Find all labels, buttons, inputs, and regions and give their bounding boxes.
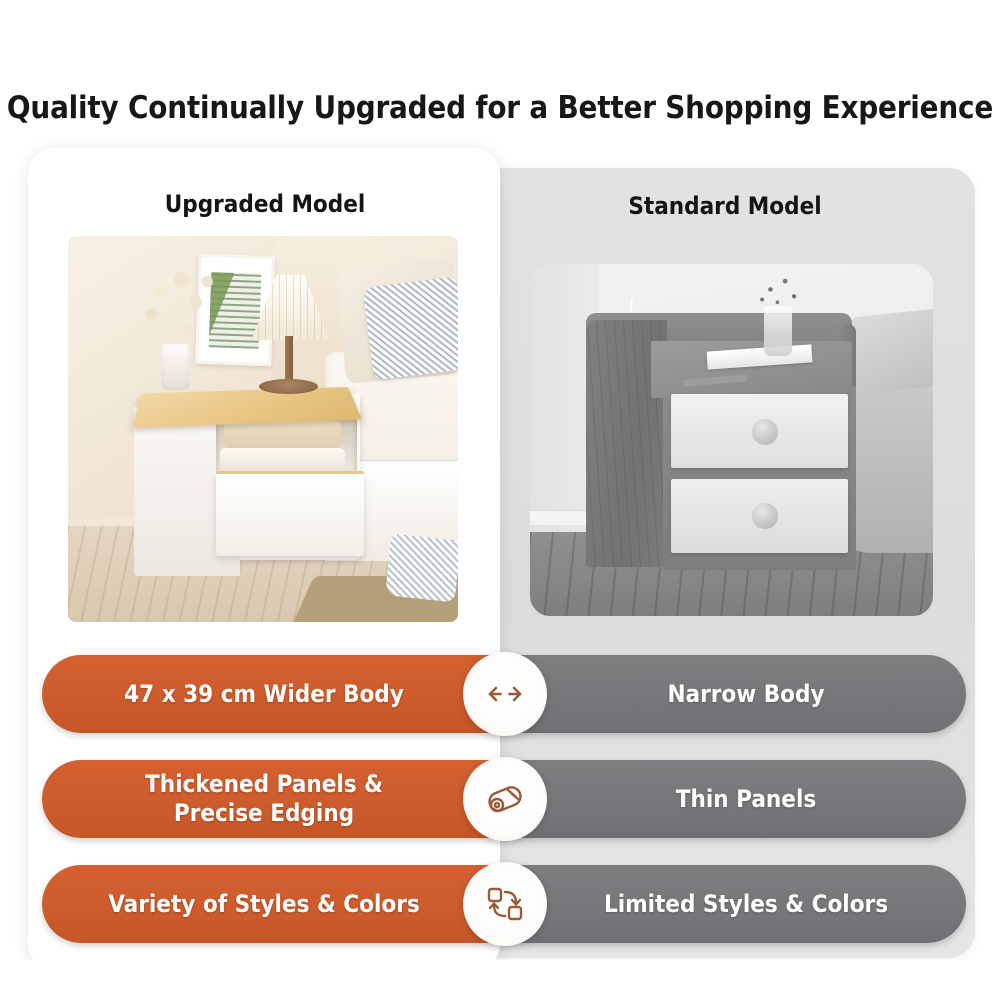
photo-folded-towel-bottom [220, 448, 345, 471]
comparison-row: Thickened Panels & Precise Edging Thin P… [42, 760, 966, 838]
styles-swap-icon [463, 862, 547, 946]
photo-lamp-base [259, 379, 318, 394]
comparison-row: Variety of Styles & Colors Limited Style… [42, 865, 966, 943]
photo-folded-towel-top [224, 421, 341, 448]
standard-feature-label: Thin Panels [546, 760, 946, 838]
photo-drawer-knob-upper [752, 419, 778, 445]
standard-feature-label: Limited Styles & Colors [546, 865, 946, 943]
wood-log-icon [463, 757, 547, 841]
upgraded-feature-label: Thickened Panels & Precise Edging [64, 760, 464, 838]
comparison-infographic: Quality Continually Upgraded for a Bette… [0, 0, 1000, 1000]
standard-feature-label: Narrow Body [546, 655, 946, 733]
photo-blanket [385, 534, 458, 603]
photo-nightstand-drawer [216, 471, 364, 555]
upgraded-model-heading: Upgraded Model [40, 190, 490, 218]
photo-sofa-cushion [849, 309, 933, 395]
upgraded-feature-label-line1: Thickened Panels & [145, 770, 383, 798]
upgraded-product-photo [68, 236, 458, 622]
photo-pillow-front [363, 277, 458, 380]
upgraded-feature-label-line2: Precise Edging [174, 799, 354, 827]
page-title: Quality Continually Upgraded for a Bette… [0, 90, 1000, 126]
upgraded-feature-label: Variety of Styles & Colors [64, 865, 464, 943]
upgraded-feature-label: 47 x 39 cm Wider Body [64, 655, 464, 733]
top-edge-spacer [0, 0, 1000, 40]
photo-vase [162, 344, 189, 390]
standard-model-heading: Standard Model [510, 192, 940, 220]
width-arrows-icon [463, 652, 547, 736]
photo-drawer-knob-lower [752, 503, 778, 529]
photo-dried-flowers [134, 263, 220, 356]
comparison-row: 47 x 39 cm Wider Body Narrow Body [42, 655, 966, 733]
standard-product-photo [530, 264, 933, 616]
photo-glass-vase [764, 306, 792, 355]
